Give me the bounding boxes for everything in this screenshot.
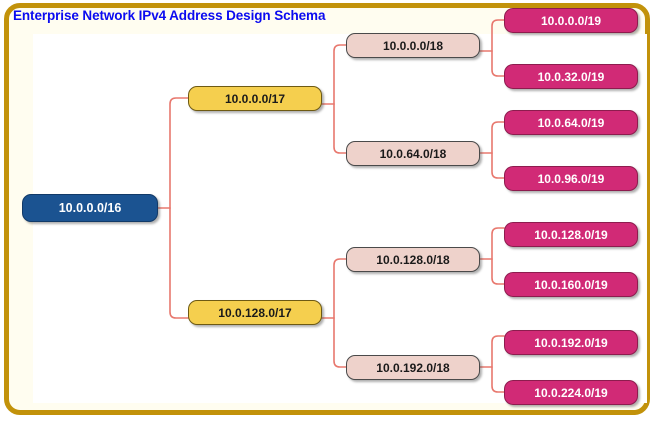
diagram-canvas: Enterprise Network IPv4 Address Design S… (0, 0, 660, 425)
node-leaf-5[interactable]: 10.0.160.0/19 (504, 272, 638, 297)
node-level3-1[interactable]: 10.0.64.0/18 (346, 141, 480, 166)
node-level3-2[interactable]: 10.0.128.0/18 (346, 247, 480, 272)
node-leaf-4[interactable]: 10.0.128.0/19 (504, 222, 638, 247)
node-level3-3[interactable]: 10.0.192.0/18 (346, 355, 480, 380)
node-level2-1[interactable]: 10.0.128.0/17 (188, 300, 322, 325)
node-level2-0[interactable]: 10.0.0.0/17 (188, 86, 322, 111)
node-leaf-0[interactable]: 10.0.0.0/19 (504, 8, 638, 33)
node-leaf-7[interactable]: 10.0.224.0/19 (504, 380, 638, 405)
node-leaf-3[interactable]: 10.0.96.0/19 (504, 166, 638, 191)
node-level3-0[interactable]: 10.0.0.0/18 (346, 33, 480, 58)
node-leaf-6[interactable]: 10.0.192.0/19 (504, 330, 638, 355)
node-leaf-2[interactable]: 10.0.64.0/19 (504, 110, 638, 135)
node-leaf-1[interactable]: 10.0.32.0/19 (504, 64, 638, 89)
node-root[interactable]: 10.0.0.0/16 (22, 194, 158, 222)
page-title: Enterprise Network IPv4 Address Design S… (13, 8, 325, 23)
